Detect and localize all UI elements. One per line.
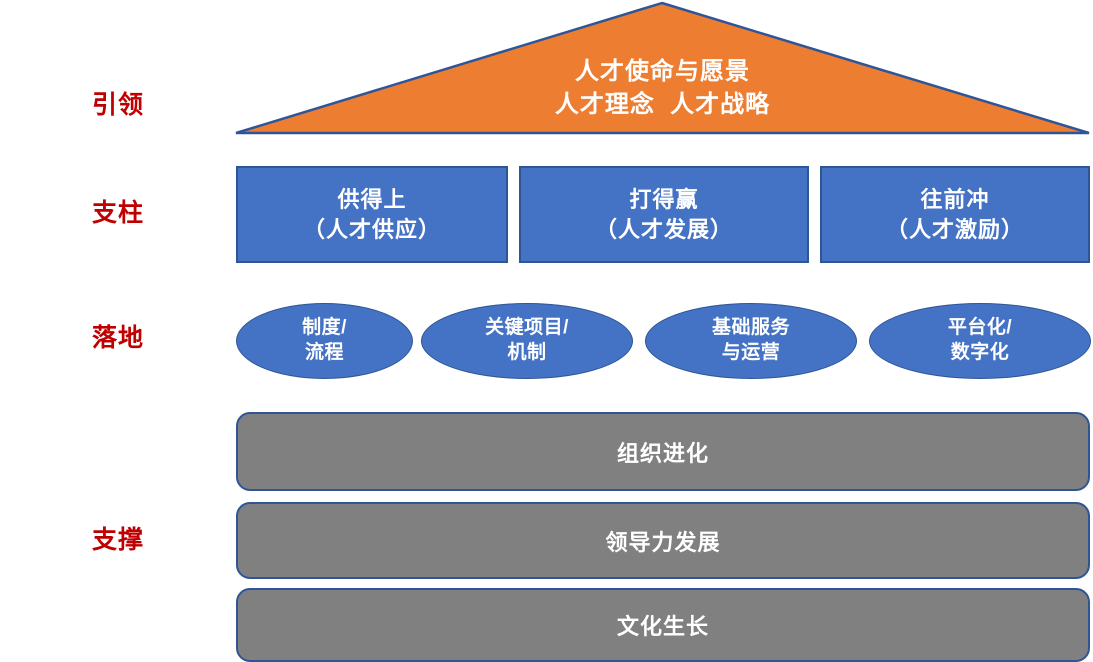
support-bar-organization-evolution[interactable]: 组织进化: [236, 412, 1090, 491]
landing-node-key-projects[interactable]: 关键项目/ 机制: [421, 303, 633, 379]
landing-node-platform-digital-line2: 数字化: [951, 341, 1010, 366]
pillar-talent-supply-line2: （人才供应）: [303, 215, 441, 244]
pillar-talent-incentive[interactable]: 往前冲 （人才激励）: [820, 166, 1090, 263]
landing-node-basic-services[interactable]: 基础服务 与运营: [645, 303, 857, 379]
landing-node-basic-services-line2: 与运营: [722, 341, 781, 366]
stage-label-support: 支撑: [8, 490, 228, 590]
landing-node-platform-digital[interactable]: 平台化/ 数字化: [869, 303, 1091, 379]
diagram-canvas: 引领 支柱 落地 支撑 人才使命与愿景 人才理念 人才战略 供得上 （人才供应）…: [0, 0, 1093, 662]
pillar-talent-development-line1: 打得赢: [629, 185, 698, 214]
support-bar-culture-growth-label: 文化生长: [617, 609, 709, 641]
pillar-talent-development[interactable]: 打得赢 （人才发展）: [519, 166, 809, 263]
pillar-talent-supply[interactable]: 供得上 （人才供应）: [236, 166, 508, 263]
landing-node-system-process-line1: 制度/: [302, 316, 347, 341]
pillar-talent-incentive-line1: 往前冲: [920, 185, 989, 214]
landing-node-basic-services-line1: 基础服务: [712, 316, 790, 341]
support-bar-leadership-development[interactable]: 领导力发展: [236, 502, 1090, 579]
stage-label-landing-text: 落地: [92, 326, 144, 351]
stage-label-support-text: 支撑: [92, 528, 144, 553]
landing-node-platform-digital-line1: 平台化/: [948, 316, 1012, 341]
support-bar-organization-evolution-label: 组织进化: [617, 436, 709, 468]
support-bar-culture-growth[interactable]: 文化生长: [236, 588, 1090, 662]
support-bar-leadership-development-label: 领导力发展: [605, 525, 720, 557]
landing-node-key-projects-line2: 机制: [507, 341, 546, 366]
stage-label-lead-text: 引领: [92, 93, 144, 118]
pillar-talent-development-line2: （人才发展）: [595, 215, 733, 244]
stage-label-lead: 引领: [8, 55, 228, 155]
roof-triangle: [232, 0, 1093, 138]
stage-label-pillar: 支柱: [8, 163, 228, 263]
landing-node-system-process-line2: 流程: [305, 341, 344, 366]
pillar-talent-incentive-line2: （人才激励）: [886, 215, 1024, 244]
pillar-talent-supply-line1: 供得上: [337, 185, 406, 214]
landing-node-system-process[interactable]: 制度/ 流程: [236, 303, 413, 379]
landing-node-key-projects-line1: 关键项目/: [485, 316, 569, 341]
stage-label-pillar-text: 支柱: [92, 201, 144, 226]
stage-label-landing: 落地: [8, 288, 228, 388]
